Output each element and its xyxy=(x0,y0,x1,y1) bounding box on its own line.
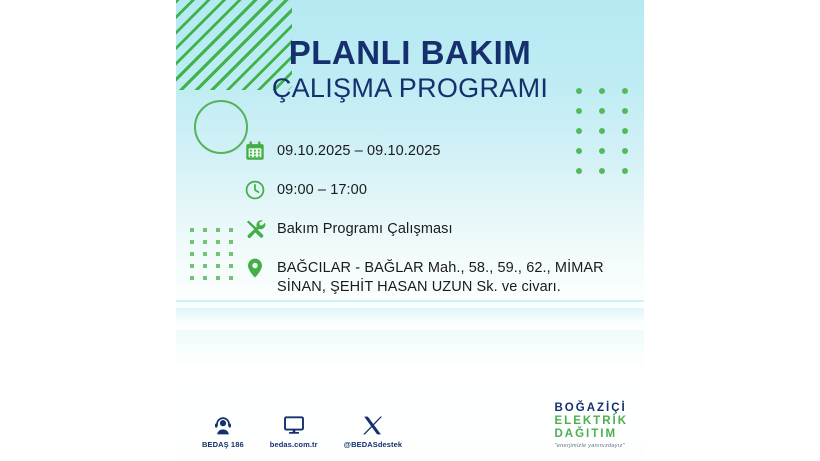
info-row-location: BAĞCILAR - BAĞLAR Mah., 58., 59., 62., M… xyxy=(242,257,634,297)
clock-icon xyxy=(242,177,268,203)
poster-footer: BEDAŞ 186 bedas.com.tr xyxy=(176,391,644,453)
tools-icon xyxy=(242,216,268,242)
contact-website-label: bedas.com.tr xyxy=(270,440,318,449)
calendar-icon xyxy=(242,138,268,164)
x-twitter-icon xyxy=(362,412,383,436)
maintenance-time-range: 09:00 – 17:00 xyxy=(277,179,367,200)
contact-call-center[interactable]: BEDAŞ 186 xyxy=(202,412,244,449)
brand-tagline: "enerjimizle yanınızdayız" xyxy=(555,443,629,449)
planned-maintenance-poster: PLANLI BAKIM ÇALIŞMA PROGRAMI xyxy=(176,0,644,461)
contact-call-center-label: BEDAŞ 186 xyxy=(202,440,244,449)
circle-outline-decoration xyxy=(194,100,248,154)
background-sheen-band xyxy=(176,330,644,370)
square-dot-grid-decoration xyxy=(190,228,242,288)
page-subtitle: ÇALIŞMA PROGRAMI xyxy=(176,74,644,104)
monitor-icon xyxy=(282,412,306,436)
call-center-agent-icon xyxy=(212,412,234,436)
poster-heading: PLANLI BAKIM ÇALIŞMA PROGRAMI xyxy=(176,36,644,103)
info-list: 09.10.2025 – 09.10.2025 09:00 – 17:00 xyxy=(242,140,634,297)
screenshot-root: PLANLI BAKIM ÇALIŞMA PROGRAMI xyxy=(0,0,820,461)
contact-channels: BEDAŞ 186 bedas.com.tr xyxy=(202,412,402,449)
bedas-logo: BOĞAZİÇİ ELEKTRİK DAĞITIM "enerjimizle y… xyxy=(555,402,629,449)
maintenance-work-type: Bakım Programı Çalışması xyxy=(277,218,453,239)
brand-line-dagitim: DAĞITIM xyxy=(555,428,629,441)
background-sheen-line xyxy=(176,300,644,302)
contact-x-twitter[interactable]: @BEDASdestek xyxy=(344,412,403,449)
contact-website[interactable]: bedas.com.tr xyxy=(270,412,318,449)
info-row-time: 09:00 – 17:00 xyxy=(242,179,634,203)
background-sheen-band xyxy=(176,308,644,324)
info-row-worktype: Bakım Programı Çalışması xyxy=(242,218,634,242)
info-row-date: 09.10.2025 – 09.10.2025 xyxy=(242,140,634,164)
maintenance-date-range: 09.10.2025 – 09.10.2025 xyxy=(277,140,441,161)
brand-line-bogazici: BOĞAZİÇİ xyxy=(555,402,629,415)
page-title: PLANLI BAKIM xyxy=(176,36,644,70)
brand-line-elektrik: ELEKTRİK xyxy=(555,415,629,428)
maintenance-address: BAĞCILAR - BAĞLAR Mah., 58., 59., 62., M… xyxy=(277,257,632,297)
location-pin-icon xyxy=(242,255,268,281)
contact-x-twitter-label: @BEDASdestek xyxy=(344,440,403,449)
